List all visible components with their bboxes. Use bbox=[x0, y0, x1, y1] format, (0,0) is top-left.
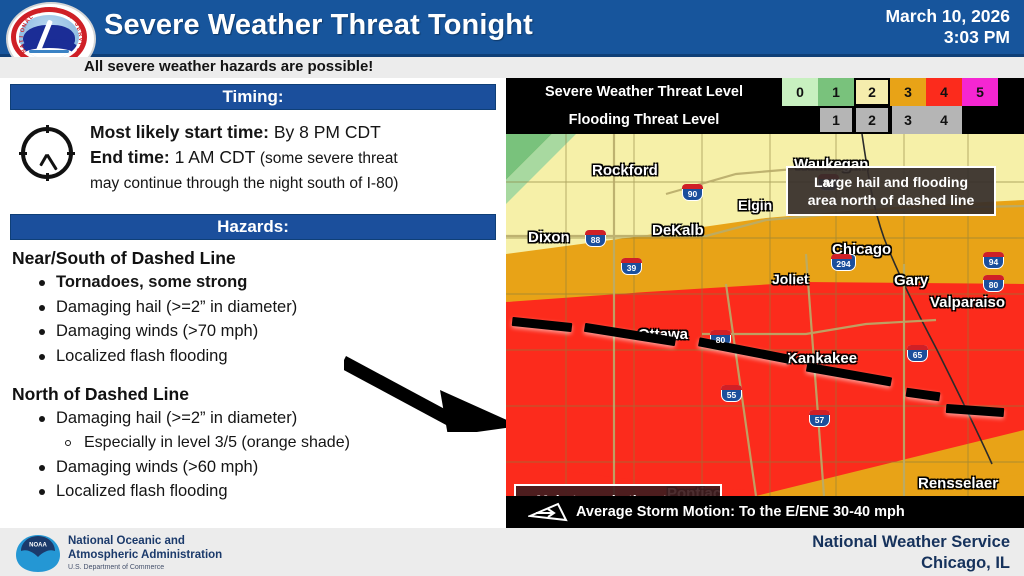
end-time-label: End time: bbox=[90, 147, 170, 167]
interstate-shield-icon: 88 bbox=[585, 230, 606, 247]
noaa-agency-name: National Oceanic and Atmospheric Adminis… bbox=[68, 535, 222, 562]
map-city-label: Rockford bbox=[592, 162, 658, 179]
start-time-value: By 8 PM CDT bbox=[274, 122, 381, 142]
pointer-arrow-icon bbox=[344, 340, 520, 432]
timing-section-label: Timing: bbox=[222, 87, 283, 107]
noaa-name-line2: Atmospheric Administration bbox=[68, 549, 222, 563]
noaa-department-line: U.S. Department of Commerce bbox=[68, 564, 164, 571]
severe-level-cell-0[interactable]: 0 bbox=[782, 78, 818, 106]
map-canvas: RockfordDeKalbDixonElginWaukeganChicagoJ… bbox=[506, 134, 1024, 496]
info-panel: Timing: Most likely start time: By 8 PM … bbox=[0, 78, 506, 528]
end-time-note: (some severe threat bbox=[260, 150, 398, 167]
storm-motion-text: Average Storm Motion: To the E/ENE 30-40… bbox=[576, 496, 905, 528]
interstate-shield-icon: 39 bbox=[621, 258, 642, 275]
end-time-value: 1 AM CDT bbox=[175, 147, 255, 167]
storm-motion-bar: Average Storm Motion: To the E/ENE 30-40… bbox=[506, 496, 1024, 528]
start-time-line: Most likely start time: By 8 PM CDT bbox=[90, 120, 502, 145]
map-city-label: DeKalb bbox=[652, 222, 704, 239]
subtitle-text: All severe weather hazards are possible! bbox=[84, 58, 373, 75]
flooding-threat-legend-row: Flooding Threat Level 1234 bbox=[506, 106, 1024, 134]
threat-map-panel: Severe Weather Threat Level 012345 Flood… bbox=[506, 78, 1024, 528]
interstate-shield-icon: 80 bbox=[983, 275, 1004, 292]
callout-line: area north of dashed line bbox=[798, 191, 984, 209]
hazard-item: Damaging winds (>60 mph) bbox=[38, 455, 502, 480]
end-time-note-cont: may continue through the night south of … bbox=[90, 171, 502, 196]
map-city-label: Gary bbox=[894, 272, 928, 289]
page-footer: NOAA National Oceanic and Atmospheric Ad… bbox=[0, 528, 1024, 576]
hazard-item: Damaging hail (>=2” in diameter) bbox=[38, 295, 502, 320]
interstate-shield-icon: 65 bbox=[907, 345, 928, 362]
start-time-label: Most likely start time: bbox=[90, 122, 269, 142]
hazard-group-heading: Near/South of Dashed Line bbox=[12, 248, 502, 269]
interstate-shield-icon: 57 bbox=[809, 410, 830, 427]
hazard-sublist: Especially in level 3/5 (orange shade) bbox=[38, 431, 502, 455]
map-city-label: Dixon bbox=[528, 229, 570, 246]
svg-text:NOAA: NOAA bbox=[29, 543, 47, 549]
hazard-item: Localized flash flooding bbox=[38, 479, 502, 504]
callout-north-label: Large hail and floodingarea north of das… bbox=[786, 166, 996, 216]
clock-icon bbox=[16, 122, 78, 184]
interstate-shield-icon: 90 bbox=[682, 184, 703, 201]
hazard-item: Tornadoes, some strong bbox=[38, 270, 502, 295]
flooding-level-cell-1[interactable]: 1 bbox=[818, 106, 854, 134]
noaa-logo-icon: NOAA bbox=[14, 533, 62, 573]
severe-threat-legend-row: Severe Weather Threat Level 012345 bbox=[506, 78, 1024, 106]
storm-motion-arrow-icon bbox=[528, 502, 568, 522]
severe-level-cell-4[interactable]: 4 bbox=[926, 78, 962, 106]
interstate-shield-icon: 55 bbox=[721, 385, 742, 402]
map-city-label: Joliet bbox=[772, 271, 809, 287]
hazards-section-header: Hazards: bbox=[10, 214, 496, 240]
noaa-name-line1: National Oceanic and bbox=[68, 535, 222, 549]
hazards-section-label: Hazards: bbox=[217, 217, 289, 237]
end-time-line: End time: 1 AM CDT (some severe threat bbox=[90, 145, 502, 171]
header-date: March 10, 2026 bbox=[885, 6, 1010, 27]
severe-level-cell-2[interactable]: 2 bbox=[854, 78, 890, 106]
flooding-level-cell-2[interactable]: 2 bbox=[854, 106, 890, 134]
interstate-shield-icon: 294 bbox=[831, 254, 856, 271]
header-datetime: March 10, 2026 3:03 PM bbox=[885, 6, 1010, 48]
map-city-label: Elgin bbox=[738, 197, 772, 213]
flooding-level-cell-4[interactable]: 4 bbox=[926, 106, 962, 134]
nws-office-line1: National Weather Service bbox=[812, 532, 1010, 553]
map-city-label: Rensselaer bbox=[918, 475, 998, 492]
timing-section-header: Timing: bbox=[10, 84, 496, 110]
nws-office-credit: National Weather Service Chicago, IL bbox=[812, 532, 1010, 574]
hazard-subitem: Especially in level 3/5 (orange shade) bbox=[64, 431, 502, 455]
interstate-shield-icon: 94 bbox=[983, 252, 1004, 269]
map-city-label: Valparaiso bbox=[930, 294, 1005, 311]
severe-threat-legend-label: Severe Weather Threat Level bbox=[506, 78, 782, 106]
header-time: 3:03 PM bbox=[885, 27, 1010, 48]
callout-south-label: Main tornado threat areasouth of dashed … bbox=[514, 484, 722, 496]
timing-details: Most likely start time: By 8 PM CDT End … bbox=[90, 120, 502, 196]
flooding-level-cell-3[interactable]: 3 bbox=[890, 106, 926, 134]
severe-level-cell-5[interactable]: 5 bbox=[962, 78, 998, 106]
threat-legend: Severe Weather Threat Level 012345 Flood… bbox=[506, 78, 1024, 134]
flooding-threat-legend-label: Flooding Threat Level bbox=[506, 106, 782, 134]
severe-level-cell-1[interactable]: 1 bbox=[818, 78, 854, 106]
page-title: Severe Weather Threat Tonight bbox=[104, 9, 533, 42]
nws-office-line2: Chicago, IL bbox=[812, 553, 1010, 574]
severe-level-cell-3[interactable]: 3 bbox=[890, 78, 926, 106]
